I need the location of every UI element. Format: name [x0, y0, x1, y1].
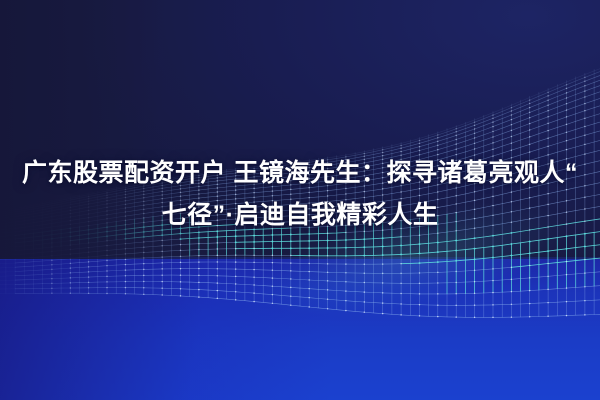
- article-cover-banner: 广东股票配资开户 王镜海先生：探寻诸葛亮观人“ 七径”·启迪自我精彩人生: [0, 0, 600, 400]
- wireframe-wave-mesh: [0, 0, 600, 400]
